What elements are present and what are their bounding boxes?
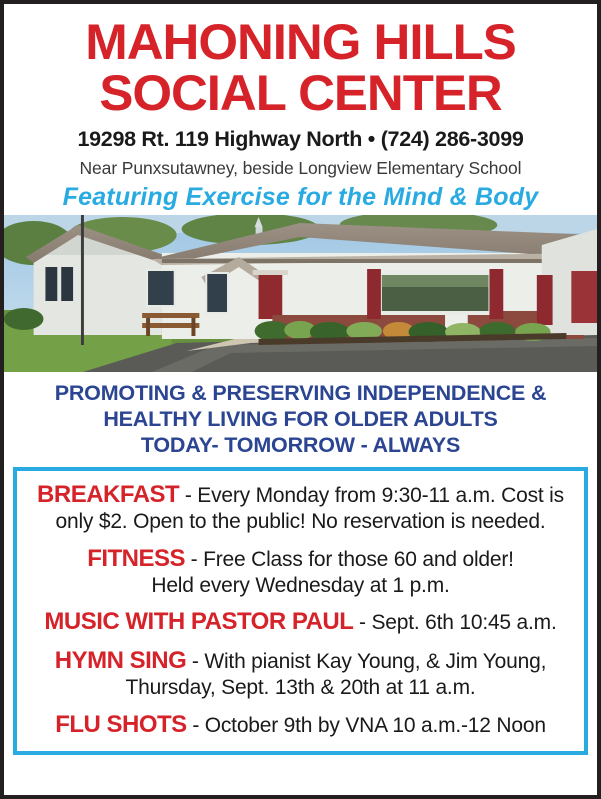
event-label-fitness: FITNESS xyxy=(87,545,185,572)
list-item: HYMN SING - With pianist Kay Young, & Ji… xyxy=(25,646,576,701)
list-item: MUSIC WITH PASTOR PAUL - Sept. 6th 10:45… xyxy=(25,607,576,636)
event-label-flu-shots: FLU SHOTS xyxy=(55,711,187,738)
promo-line-1: PROMOTING & PRESERVING INDEPENDENCE & xyxy=(10,380,591,406)
event-detail-fitness: - Free Class for those 60 and older! xyxy=(185,548,514,571)
flyer-advertisement: MAHONING HILLS SOCIAL CENTER 19298 Rt. 1… xyxy=(0,0,601,799)
promo-statement: PROMOTING & PRESERVING INDEPENDENCE & HE… xyxy=(4,372,597,465)
page-title-line1: MAHONING HILLS xyxy=(6,18,595,67)
event-detail-flu-shots: - October 9th by VNA 10 a.m.-12 Noon xyxy=(187,714,546,737)
list-item: BREAKFAST - Every Monday from 9:30-11 a.… xyxy=(25,480,576,535)
event-detail-fitness-line2: Held every Wednesday at 1 p.m. xyxy=(25,573,576,599)
building-photo xyxy=(4,215,597,372)
building-photo-illustration xyxy=(4,215,597,372)
page-title-line2: SOCIAL CENTER xyxy=(6,69,595,118)
list-item: FLU SHOTS - October 9th by VNA 10 a.m.-1… xyxy=(25,710,576,739)
promo-line-3: TODAY- TOMORROW - ALWAYS xyxy=(10,432,591,458)
address-phone-line: 19298 Rt. 119 Highway North • (724) 286-… xyxy=(12,127,589,152)
events-list: BREAKFAST - Every Monday from 9:30-11 a.… xyxy=(13,467,588,755)
event-label-breakfast: BREAKFAST xyxy=(37,481,179,508)
location-description: Near Punxsutawney, beside Longview Eleme… xyxy=(12,158,589,179)
event-detail-hymn-sing: - With pianist Kay Young, & Jim Young, xyxy=(186,650,546,673)
event-label-hymn-sing: HYMN SING xyxy=(55,647,187,674)
event-label-music-with-pastor-paul: MUSIC WITH PASTOR PAUL xyxy=(44,608,353,635)
flyer-header: MAHONING HILLS SOCIAL CENTER 19298 Rt. 1… xyxy=(4,4,597,212)
featuring-tagline: Featuring Exercise for the Mind & Body xyxy=(12,183,589,212)
list-item: FITNESS - Free Class for those 60 and ol… xyxy=(25,544,576,599)
event-detail-music-with-pastor-paul: - Sept. 6th 10:45 a.m. xyxy=(353,611,556,634)
event-detail-breakfast: - Every Monday from 9:30-11 a.m. Cost is xyxy=(179,484,564,507)
promo-line-2: HEALTHY LIVING FOR OLDER ADULTS xyxy=(10,406,591,432)
event-detail-hymn-sing-line2: Thursday, Sept. 13th & 20th at 11 a.m. xyxy=(25,675,576,701)
event-detail-breakfast-line2: only $2. Open to the public! No reservat… xyxy=(25,509,576,535)
